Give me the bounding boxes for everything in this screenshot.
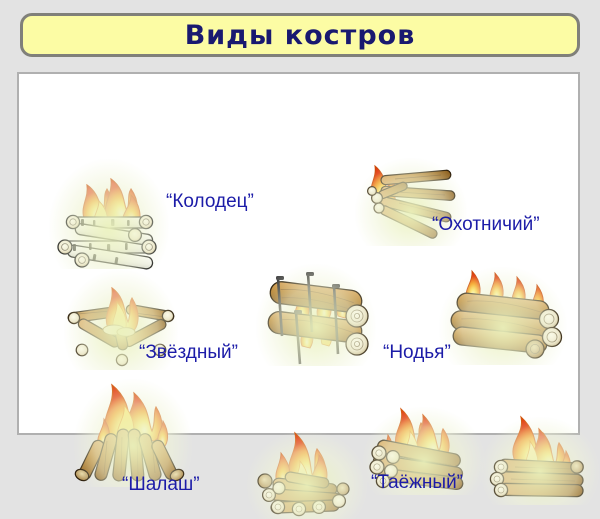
campfire-stack-icon xyxy=(481,417,599,505)
figure-pile xyxy=(247,431,367,519)
figure-label-kolodets: “Колодец” xyxy=(166,191,254,213)
campfire-stakes-icon xyxy=(256,264,376,366)
figure-nodya-stakes xyxy=(256,264,376,366)
slide-title-bar: Виды костров xyxy=(20,13,580,57)
campfire-pile-icon xyxy=(247,431,367,519)
figure-label-shalash: “Шалаш” xyxy=(122,474,200,496)
figure-kolodets xyxy=(49,159,169,269)
page-title: Виды костров xyxy=(185,20,416,51)
campfire-nodya-icon xyxy=(439,267,567,365)
campfire-well-icon xyxy=(49,159,169,269)
figure-nodya xyxy=(439,267,567,365)
figure-parallel-stack xyxy=(481,417,599,505)
figure-shalash xyxy=(74,379,192,487)
figure-label-zvyozdny: “Звёздный” xyxy=(139,342,238,364)
slide-content-panel: “Колодец” xyxy=(17,72,580,435)
figure-label-ohotnichiy: “Охотничий” xyxy=(432,214,540,236)
campfire-teepee-icon xyxy=(74,379,192,487)
figure-label-tayozhny: “Таёжный” xyxy=(371,472,463,494)
figure-label-nodya: “Нодья” xyxy=(383,342,451,364)
